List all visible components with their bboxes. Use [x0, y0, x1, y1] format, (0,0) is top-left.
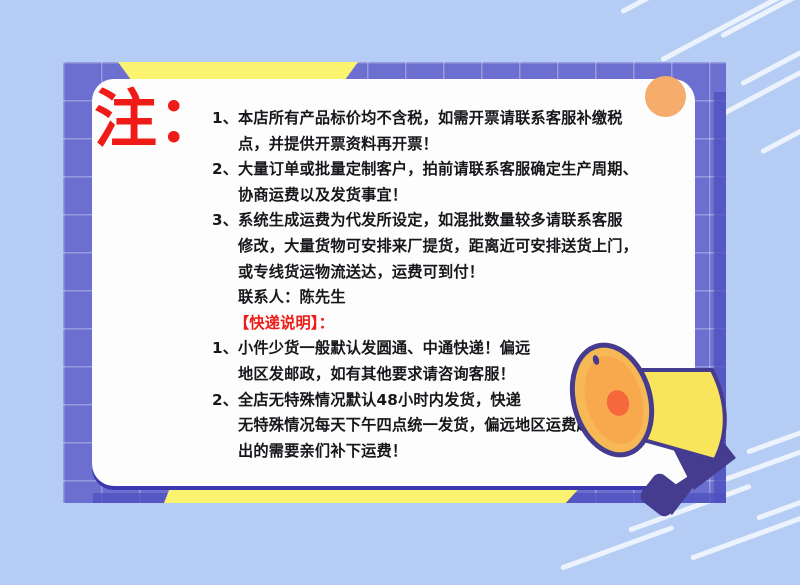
list-item: 1、 本店所有产品标价均不含税，如需开票请联系客服补缴税	[212, 106, 684, 132]
list-item: 3、 系统生成运费为代发所设定，如混批数量较多请联系客服	[212, 208, 684, 234]
list-item: 2、 大量订单或批量定制客户，拍前请联系客服确定生产周期、	[212, 157, 684, 183]
page-title: 注：	[94, 88, 222, 151]
list-number: 2、	[212, 388, 238, 414]
list-text: 大量订单或批量定制客户，拍前请联系客服确定生产周期、	[238, 157, 684, 183]
speed-streak	[560, 525, 674, 571]
list-text-cont: 协商运费以及发货事宜！	[212, 183, 684, 209]
speed-streak	[620, 0, 728, 14]
speed-streak	[660, 0, 795, 62]
list-text-cont: 点，并提供开票资料再开票！	[212, 132, 684, 158]
list-number: 2、	[212, 157, 238, 183]
list-text: 系统生成运费为代发所设定，如混批数量较多请联系客服	[238, 208, 684, 234]
poster-canvas: 注： 1、 本店所有产品标价均不含税，如需开票请联系客服补缴税 点，并提供开票资…	[0, 0, 800, 585]
list-number: 1、	[212, 106, 238, 132]
list-text: 本店所有产品标价均不含税，如需开票请联系客服补缴税	[238, 106, 684, 132]
speed-streak	[760, 117, 800, 154]
list-number: 1、	[212, 336, 238, 362]
megaphone-icon	[540, 300, 770, 530]
list-text-cont: 或专线货运物流送达，运费可到付！	[212, 260, 684, 286]
list-text-cont: 修改，大量货物可安排来厂提货，距离近可安排送货上门，	[212, 234, 684, 260]
speed-streak	[720, 0, 800, 38]
list-number: 3、	[212, 208, 238, 234]
speed-streak	[740, 40, 800, 87]
